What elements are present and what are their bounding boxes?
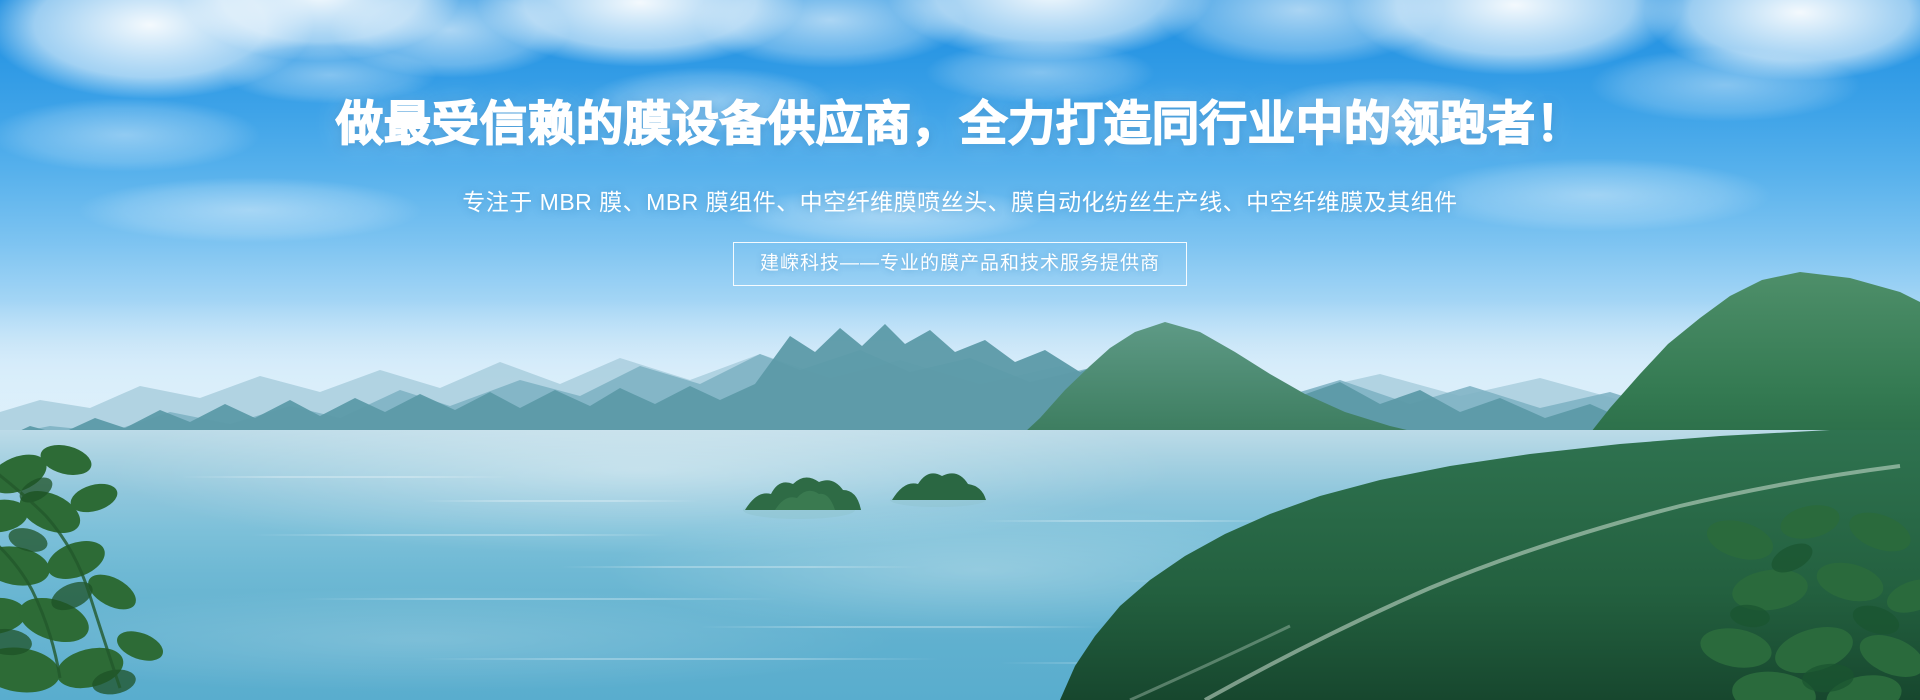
hero-banner: 做最受信赖的膜设备供应商，全力打造同行业中的领跑者！ 专注于 MBR 膜、MBR… bbox=[0, 0, 1920, 700]
right-shoreline bbox=[0, 430, 1920, 700]
